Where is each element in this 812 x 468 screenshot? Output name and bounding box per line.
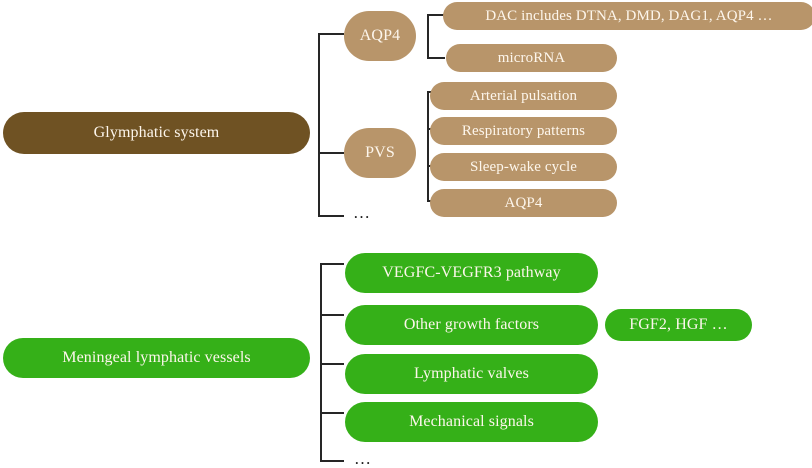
node-pvs[interactable]: PVS — [344, 128, 416, 178]
node-arterial-pulsation[interactable]: Arterial pulsation — [430, 82, 617, 110]
connector-pvs-trunk — [427, 91, 429, 202]
node-dac-includes[interactable]: DAC includes DTNA, DMD, DAG1, AQP4 … — [443, 2, 812, 30]
node-aqp4[interactable]: AQP4 — [344, 11, 416, 61]
node-microrna[interactable]: microRNA — [446, 44, 617, 72]
connector-glymphatic-to-pvs — [318, 152, 344, 154]
node-mechanical-signals[interactable]: Mechanical signals — [345, 402, 598, 442]
connector-meningeal-to-mechanical-signals — [320, 412, 344, 414]
node-meningeal-more: … — [354, 450, 372, 467]
connector-glymphatic-to-more — [318, 215, 344, 217]
node-respiratory-patterns[interactable]: Respiratory patterns — [430, 117, 617, 145]
connector-glymphatic-to-aqp4 — [318, 33, 344, 35]
node-meningeal-lymphatic-vessels[interactable]: Meningeal lymphatic vessels — [3, 338, 310, 378]
node-other-growth-factors[interactable]: Other growth factors — [345, 305, 598, 345]
connector-meningeal-to-more — [320, 460, 344, 462]
node-sleep-wake-cycle[interactable]: Sleep-wake cycle — [430, 153, 617, 181]
connector-meningeal-to-lymphatic-valves — [320, 363, 344, 365]
connector-aqp4-trunk — [427, 14, 429, 59]
connector-glymphatic-trunk — [318, 33, 320, 217]
node-glymphatic-system[interactable]: Glymphatic system — [3, 112, 310, 154]
connector-meningeal-to-other-growth-factors — [320, 314, 344, 316]
node-fgf2-hgf[interactable]: FGF2, HGF … — [605, 309, 752, 341]
connector-meningeal-to-vegfc — [320, 263, 344, 265]
diagram-canvas: Glymphatic system AQP4 PVS … DAC include… — [0, 0, 812, 468]
node-vegfc-vegfr3-pathway[interactable]: VEGFC-VEGFR3 pathway — [345, 253, 598, 293]
node-lymphatic-valves[interactable]: Lymphatic valves — [345, 354, 598, 394]
node-aqp4-pvs-child[interactable]: AQP4 — [430, 189, 617, 217]
node-glymphatic-more: … — [353, 204, 371, 221]
connector-aqp4-to-microrna — [427, 57, 445, 59]
